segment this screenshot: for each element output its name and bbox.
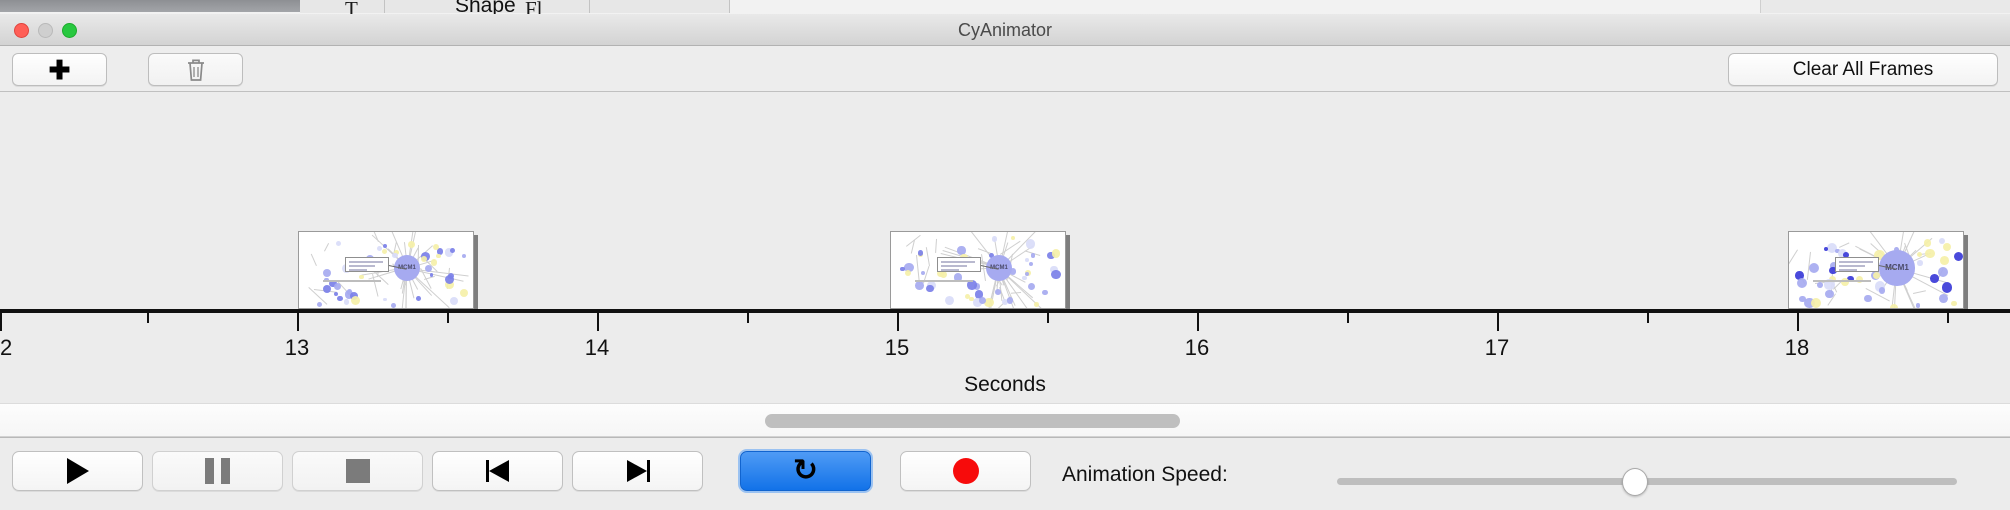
network-node <box>460 289 468 297</box>
scrollbar-thumb[interactable] <box>765 414 1180 428</box>
delete-frame-button[interactable] <box>148 53 243 86</box>
tooltip-text-line <box>349 265 375 267</box>
add-frame-button[interactable]: ✚ <box>12 53 107 86</box>
trash-icon <box>185 57 207 83</box>
network-tooltip <box>345 257 389 272</box>
tick-label: 15 <box>885 335 909 361</box>
network-node <box>1026 239 1035 248</box>
network-node <box>1809 263 1819 273</box>
tick-major <box>0 313 2 331</box>
network-tooltip <box>937 257 981 272</box>
network-node <box>900 267 905 272</box>
network-node <box>1938 267 1948 277</box>
animation-speed-slider-thumb[interactable] <box>1622 468 1648 496</box>
network-node <box>336 241 341 246</box>
playback-control-bar: ↻ Animation Speed: <box>0 437 2010 510</box>
loop-icon: ↻ <box>793 456 818 486</box>
network-node <box>1930 274 1939 283</box>
network-node <box>1864 295 1872 303</box>
network-node <box>450 297 458 305</box>
network-edge <box>1011 292 1021 294</box>
network-edge <box>1788 249 1798 266</box>
tick-major <box>1497 313 1499 331</box>
network-node <box>391 303 396 308</box>
tooltip-text-line <box>941 265 967 267</box>
network-node <box>1811 298 1822 309</box>
tick-minor <box>1347 313 1349 323</box>
background-right-panel <box>1760 0 2010 13</box>
network-node <box>1022 276 1026 280</box>
tick-minor <box>147 313 149 323</box>
clear-all-frames-label: Clear All Frames <box>1793 59 1933 81</box>
tooltip-text-line <box>1839 261 1873 263</box>
network-node <box>1924 239 1931 246</box>
network-node <box>1025 272 1029 276</box>
network-node <box>450 248 455 253</box>
frame-thumbnail-1[interactable]: MCM1 <box>298 231 474 309</box>
tick-major <box>897 313 899 331</box>
tick-minor <box>747 313 749 323</box>
network-node <box>382 249 387 254</box>
network-node <box>1799 296 1805 302</box>
network-tooltip <box>1835 257 1879 272</box>
network-node <box>1916 303 1920 307</box>
network-node <box>995 289 1001 295</box>
network-node <box>337 296 342 301</box>
tooltip-text-line <box>349 261 383 263</box>
network-node <box>945 296 954 305</box>
network-caption-text <box>915 280 973 282</box>
skip-previous-icon <box>485 458 511 484</box>
network-node <box>317 302 322 307</box>
close-icon[interactable] <box>14 23 29 38</box>
tooltip-text-line <box>1839 265 1865 267</box>
network-node <box>1031 253 1036 258</box>
frame-thumbnail-3[interactable]: MCM1 <box>1788 231 1964 309</box>
network-node <box>1943 243 1951 251</box>
network-node <box>416 296 421 301</box>
frame-thumbnail-2[interactable]: MCM1 <box>890 231 1066 309</box>
network-node <box>408 241 415 248</box>
network-hub-node: MCM1 <box>1879 250 1914 285</box>
tick-minor <box>1947 313 1949 323</box>
network-node <box>992 236 997 241</box>
network-node <box>969 297 974 302</box>
record-icon <box>953 458 979 484</box>
network-node <box>1007 297 1014 304</box>
network-edge <box>916 255 920 283</box>
tick-label: 16 <box>1185 335 1209 361</box>
network-node <box>1939 238 1945 244</box>
network-node <box>431 259 438 266</box>
network-node <box>1052 249 1061 258</box>
timeline-panel[interactable]: MCM1MCM1MCM1 12131415161718 Seconds <box>0 93 2010 403</box>
network-node <box>1879 287 1886 294</box>
tick-minor <box>447 313 449 323</box>
network-edge <box>926 247 930 266</box>
stop-button[interactable] <box>292 451 423 491</box>
network-node <box>323 269 331 277</box>
network-node <box>1925 249 1935 259</box>
skip-next-icon <box>625 458 651 484</box>
clear-all-frames-button[interactable]: Clear All Frames <box>1728 53 1998 86</box>
background-cell <box>590 0 730 13</box>
tooltip-text-line <box>941 261 975 263</box>
play-button[interactable] <box>12 451 143 491</box>
timeline-axis <box>0 309 2010 313</box>
background-glyph: Fl <box>525 0 543 14</box>
network-node <box>359 275 363 279</box>
tick-major <box>1197 313 1199 331</box>
animation-speed-label: Animation Speed: <box>1062 463 1228 487</box>
maximize-icon[interactable] <box>62 23 77 38</box>
network-node <box>1042 290 1047 295</box>
network-node <box>1940 256 1949 265</box>
network-node <box>436 254 441 259</box>
network-edge <box>324 243 329 252</box>
tooltip-text-line <box>349 269 367 271</box>
network-node <box>1011 236 1015 240</box>
frame-toolbar: ✚ Clear All Frames <box>0 46 2010 92</box>
window-title: CyAnimator <box>0 14 2010 46</box>
window-titlebar: CyAnimator <box>0 14 2010 46</box>
network-node <box>1939 294 1948 303</box>
skip-to-end-button[interactable] <box>572 451 703 491</box>
network-node <box>905 270 911 276</box>
network-node <box>1029 262 1033 266</box>
background-cell <box>300 0 385 13</box>
network-node <box>1954 252 1963 261</box>
network-node <box>1051 270 1060 279</box>
network-caption-text <box>1813 280 1871 282</box>
network-node <box>1025 258 1029 262</box>
network-node <box>462 254 466 258</box>
network-node <box>1824 247 1828 251</box>
tick-major <box>1797 313 1799 331</box>
network-node <box>334 292 338 296</box>
tick-label: 12 <box>0 335 12 361</box>
tooltip-text-line <box>1839 269 1857 271</box>
record-button[interactable] <box>900 451 1031 491</box>
network-node <box>915 281 924 290</box>
network-node <box>334 283 341 290</box>
network-node <box>1817 282 1823 288</box>
tick-minor <box>1047 313 1049 323</box>
network-node <box>926 285 934 293</box>
background-glyph: T <box>345 0 358 14</box>
background-window-label: Shape <box>455 0 516 14</box>
tick-label: 17 <box>1485 335 1509 361</box>
pause-button[interactable] <box>152 451 283 491</box>
network-node <box>918 250 924 256</box>
network-caption-text <box>323 280 381 282</box>
frame-track[interactable]: MCM1MCM1MCM1 <box>0 93 2010 309</box>
loop-button[interactable]: ↻ <box>740 451 871 491</box>
network-node <box>1028 283 1035 290</box>
network-node <box>383 298 387 302</box>
network-edge <box>372 274 378 297</box>
tick-major <box>597 313 599 331</box>
network-edge <box>935 239 937 253</box>
background-window-strip: T Fl Shape <box>0 0 2010 14</box>
tick-label: 18 <box>1785 335 1809 361</box>
play-icon <box>67 458 89 484</box>
network-node <box>1951 301 1957 307</box>
skip-to-start-button[interactable] <box>432 451 563 491</box>
tooltip-text-line <box>941 269 959 271</box>
background-titlebar <box>0 0 300 12</box>
network-node <box>1942 282 1952 292</box>
network-edge <box>1913 291 1926 295</box>
tick-minor <box>1647 313 1649 323</box>
tick-major <box>297 313 299 331</box>
network-node <box>1917 260 1922 265</box>
traffic-lights <box>14 23 77 38</box>
network-node <box>344 299 349 304</box>
network-edge <box>311 254 317 266</box>
plus-icon: ✚ <box>49 57 71 83</box>
tick-label: 13 <box>285 335 309 361</box>
tick-label: 14 <box>585 335 609 361</box>
network-node <box>351 296 360 305</box>
network-node <box>1034 302 1039 307</box>
network-node <box>1797 278 1807 288</box>
stop-icon <box>346 459 370 483</box>
network-edge <box>1839 243 1849 248</box>
minimize-icon[interactable] <box>38 23 53 38</box>
pause-icon <box>205 458 230 484</box>
horizontal-scrollbar[interactable] <box>0 403 2010 437</box>
axis-title: Seconds <box>0 373 2010 397</box>
